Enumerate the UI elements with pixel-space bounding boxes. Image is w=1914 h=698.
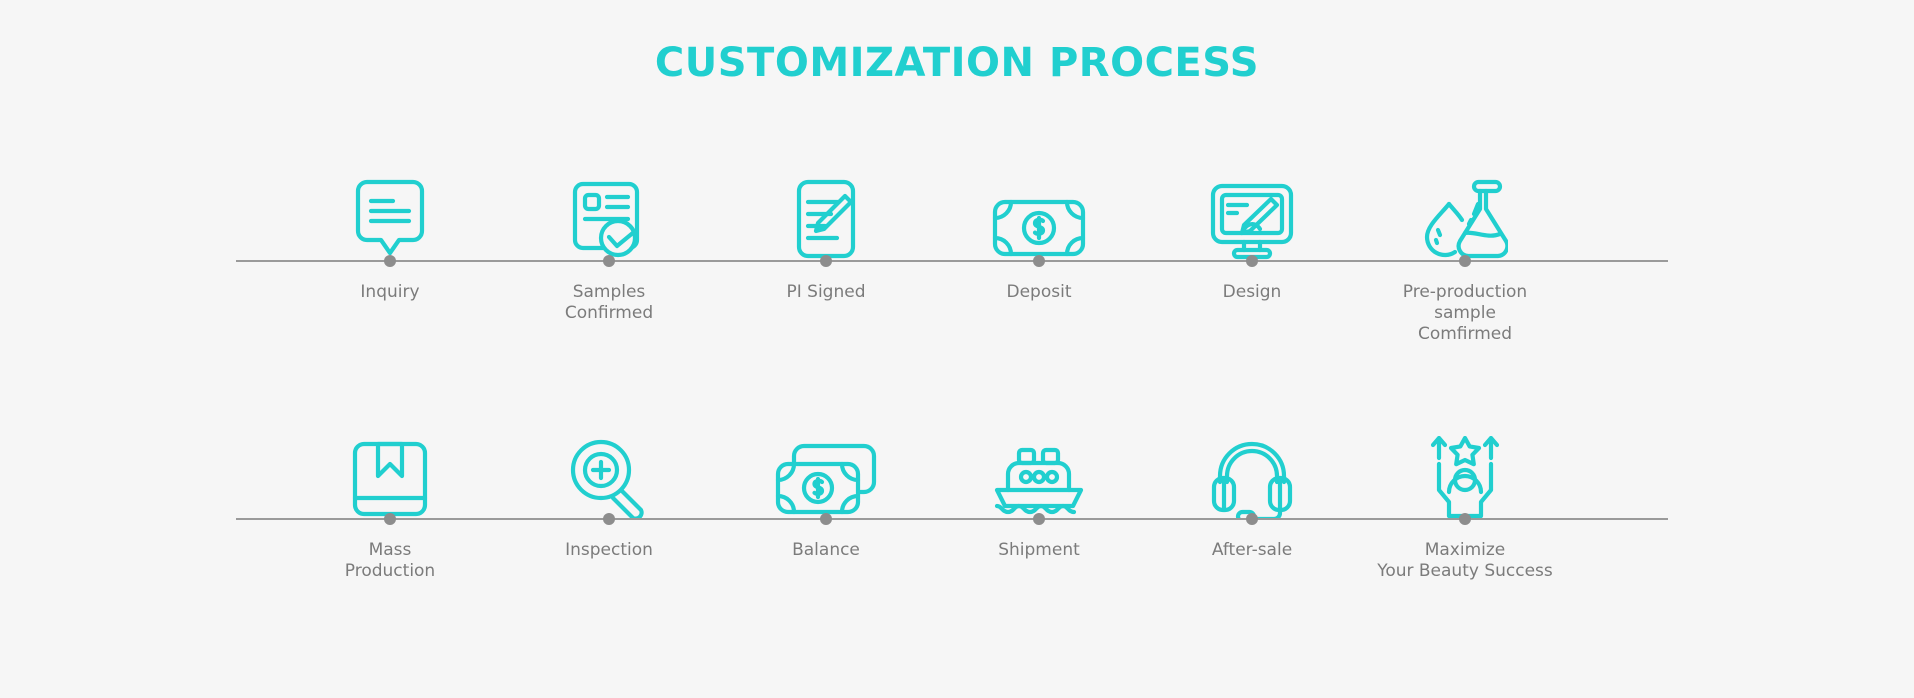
magnifier-plus-icon [549, 408, 669, 518]
customization-process-infographic: CUSTOMIZATION PROCESS [0, 0, 1914, 698]
page-title: CUSTOMIZATION PROCESS [0, 40, 1914, 86]
banknote-stack-icon [766, 408, 886, 518]
timeline-row-1: Inquiry Samples Confirmed PI Signed Depo… [236, 150, 1668, 352]
row-2-icons [236, 408, 1668, 518]
lab-flask-icon [1405, 150, 1525, 260]
cargo-ship-icon [979, 408, 1099, 518]
row-1-icons [236, 150, 1668, 260]
timeline-row-2: Mass Production Inspection Balance Shipm… [236, 408, 1668, 610]
row-1-labels: Inquiry Samples Confirmed PI Signed Depo… [236, 262, 1668, 352]
person-star-arrows-icon [1405, 408, 1525, 518]
step-label-pre-production-sample: Pre-production sample Comfirmed [1335, 282, 1595, 345]
package-box-icon [330, 408, 450, 518]
row-2-labels: Mass Production Inspection Balance Shipm… [236, 520, 1668, 610]
banknote-dollar-icon [979, 150, 1099, 260]
headset-icon [1192, 408, 1312, 518]
certificate-check-icon [549, 150, 669, 260]
speech-bubble-icon [330, 150, 450, 260]
step-label-maximize: Maximize Your Beauty Success [1335, 540, 1595, 582]
monitor-pen-icon [1192, 150, 1312, 260]
document-pen-icon [766, 150, 886, 260]
